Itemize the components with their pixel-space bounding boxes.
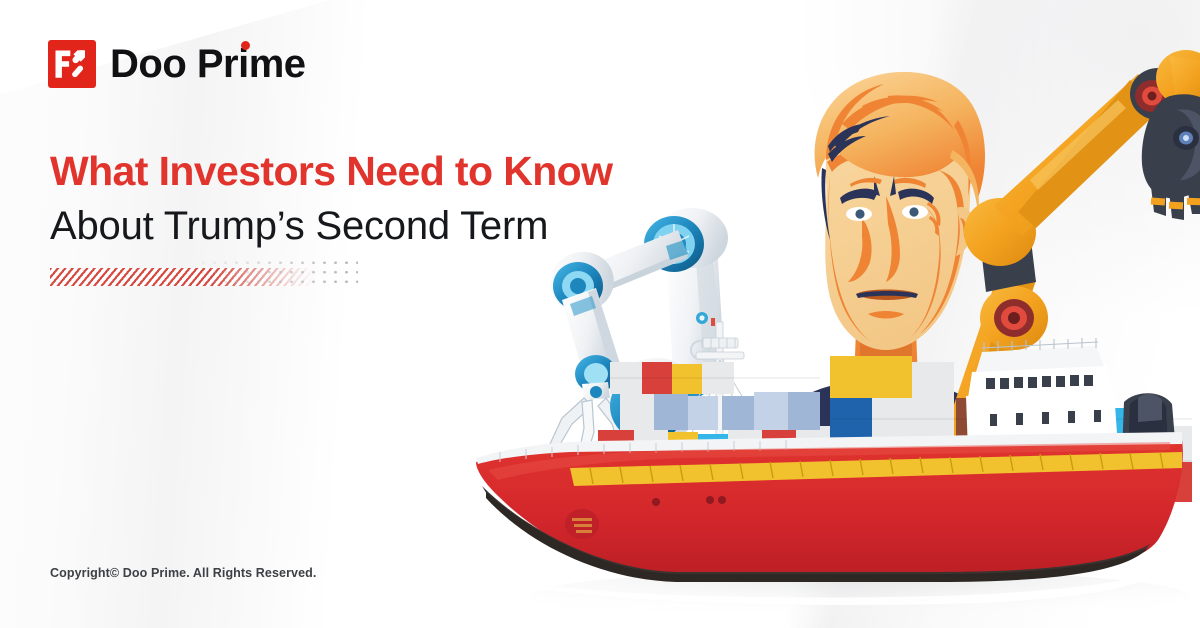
wordmark-i-dot-icon bbox=[241, 41, 250, 50]
hero-artwork-illustration bbox=[470, 0, 1200, 628]
decorative-accent-group bbox=[50, 258, 350, 292]
brand-logo[interactable]: Doo Prime bbox=[48, 40, 306, 88]
banner-canvas: Doo Prime What Investors Need to Know Ab… bbox=[0, 0, 1200, 628]
halftone-dot-grid-accent-icon bbox=[198, 258, 358, 286]
doo-prime-logo-mark-icon bbox=[48, 40, 96, 88]
copyright-text: Copyright© Doo Prime. All Rights Reserve… bbox=[50, 566, 316, 580]
brand-wordmark: Doo Prime bbox=[110, 44, 306, 84]
hero-artwork bbox=[470, 0, 1200, 628]
brand-wordmark-text: Doo Prime bbox=[110, 42, 306, 86]
